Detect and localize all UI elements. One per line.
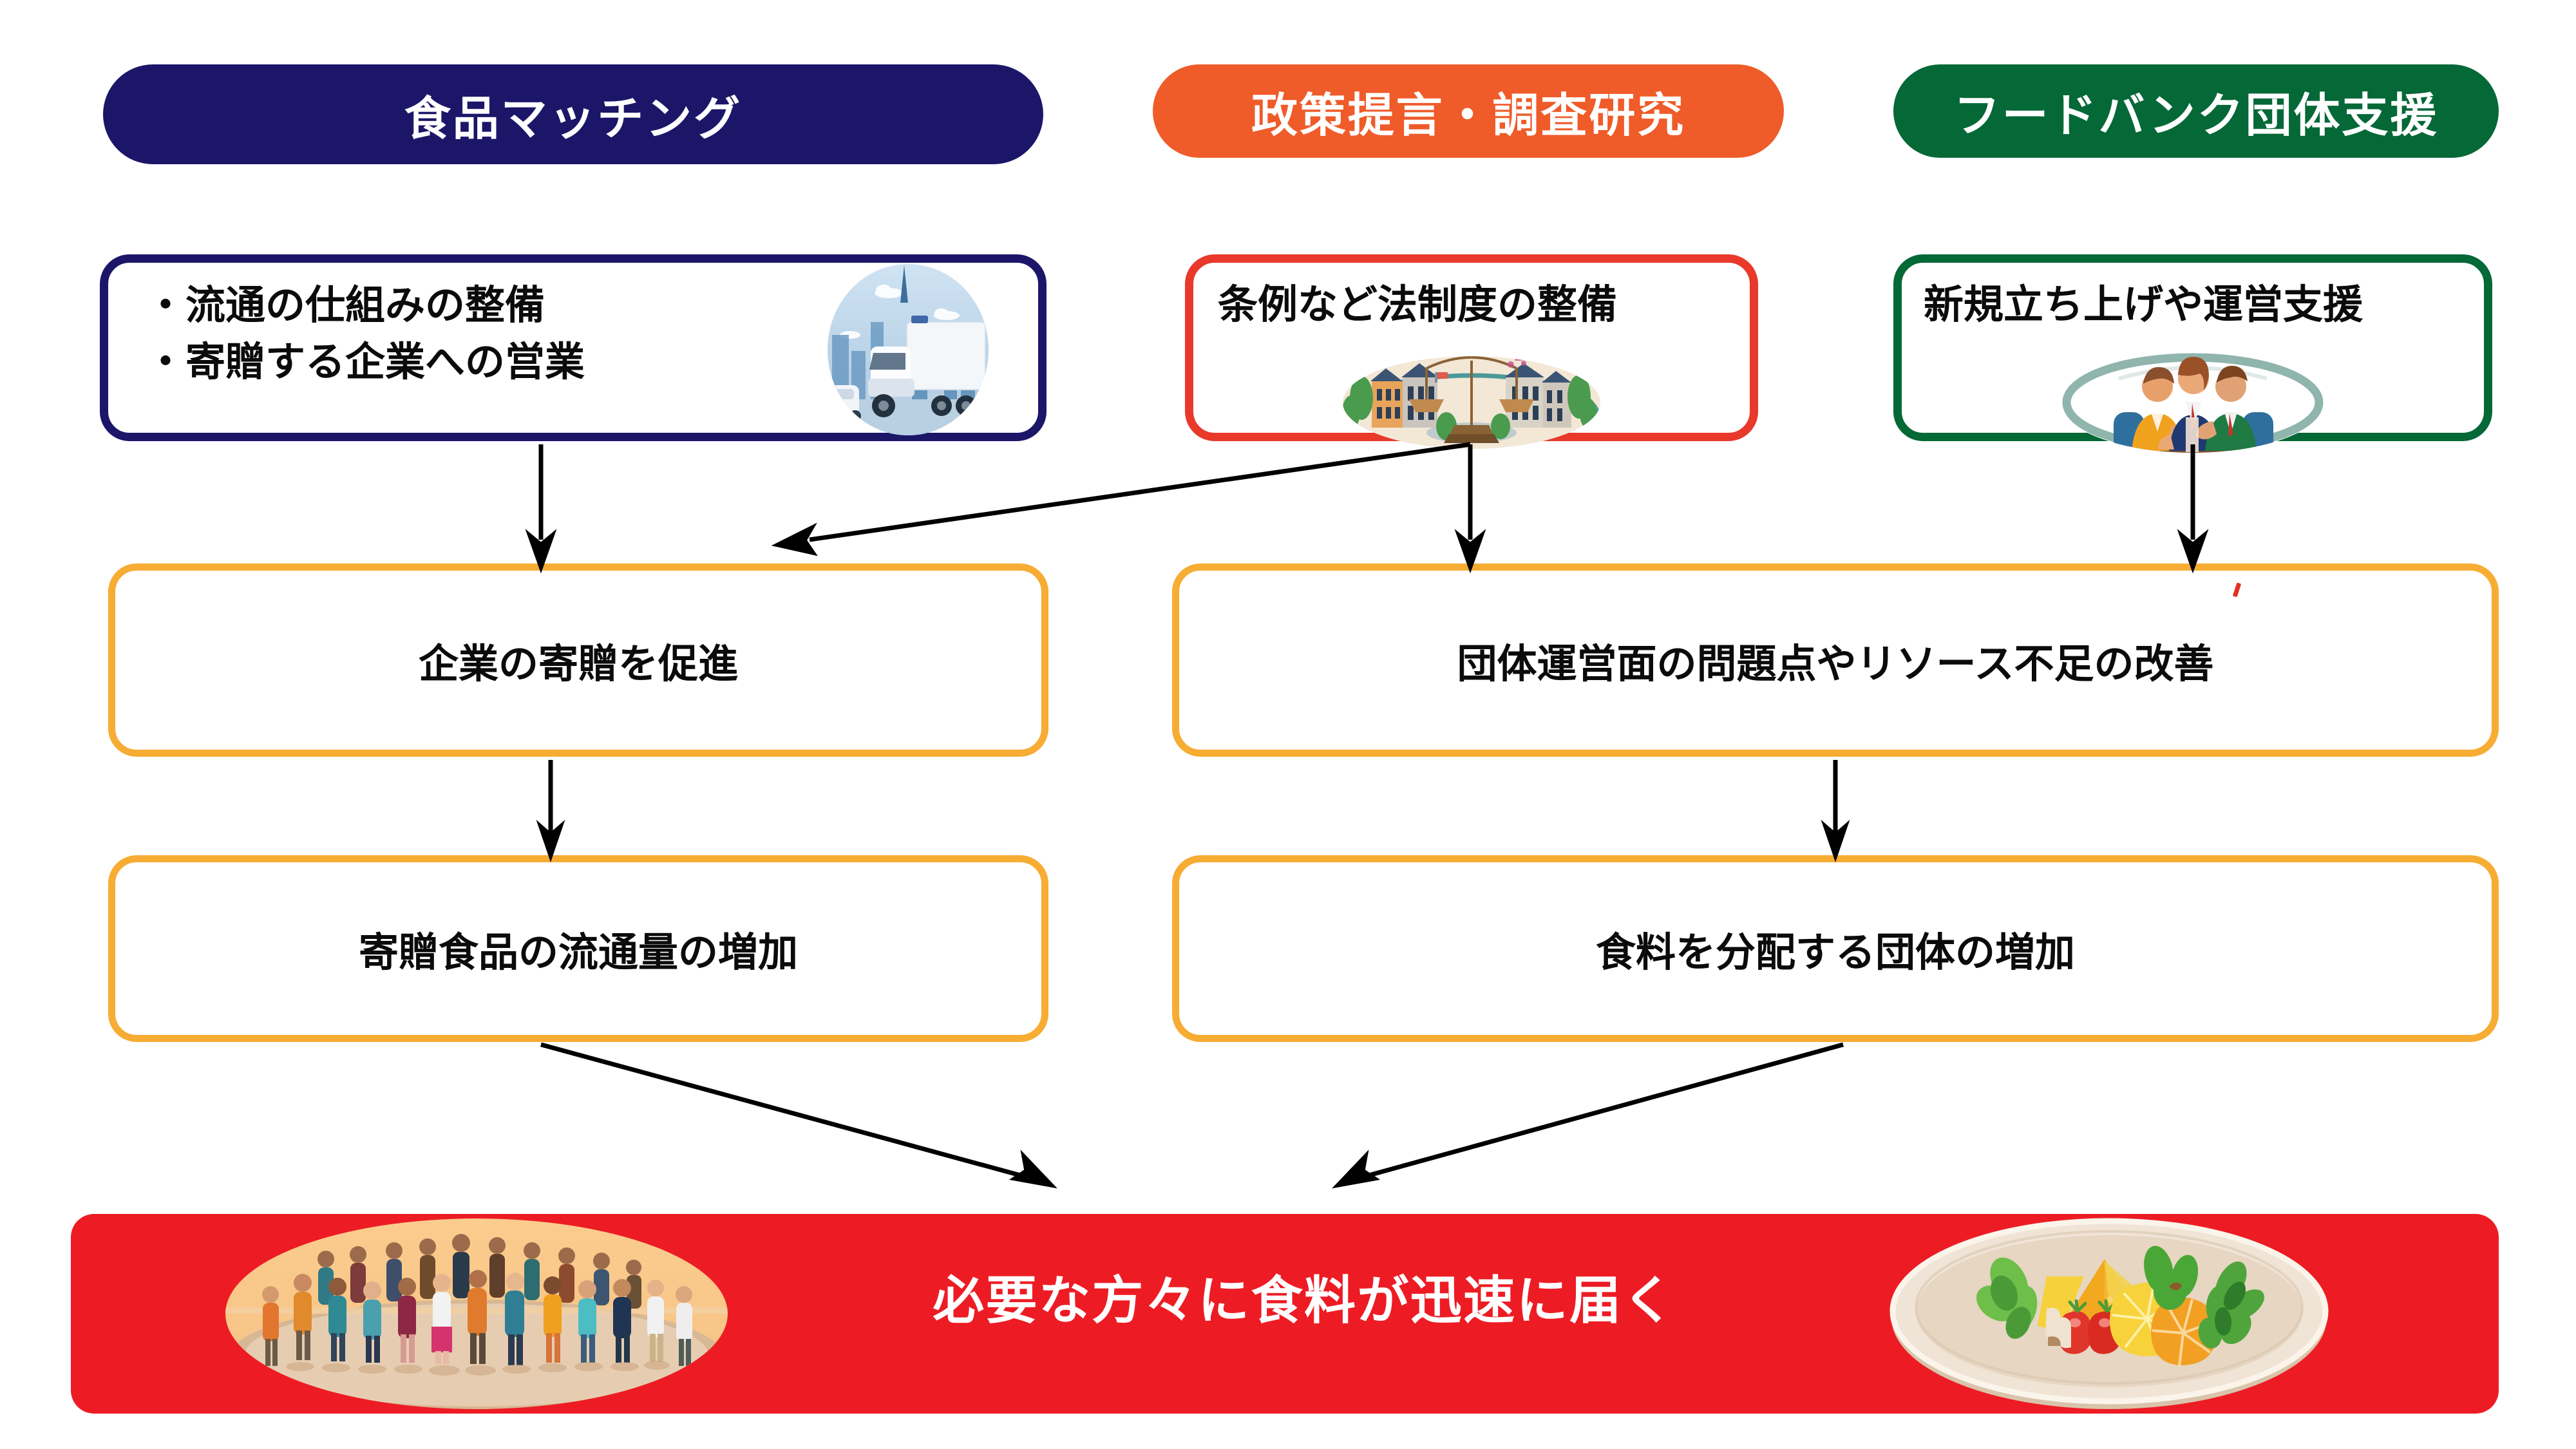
outcome-label: 寄贈食品の流通量の増加 [359, 920, 798, 978]
activity-card-foodbank[interactable]: 新規立ち上げや運営支援 [1893, 254, 2492, 441]
header-pill-foodbank-support-label: フードバンク団体支援 [1954, 77, 2438, 145]
arrow-orgs-to-goal [1338, 1045, 1843, 1185]
header-pill-policy-research[interactable]: 政策提言・調査研究 [1153, 64, 1784, 158]
header-pill-food-matching-label: 食品マッチング [404, 80, 742, 148]
outcome-box-promote-corporate-donation[interactable]: 企業の寄贈を促進 [108, 563, 1048, 757]
arrow-match-to-promote [530, 444, 552, 567]
header-pill-food-matching[interactable]: 食品マッチング [103, 64, 1043, 164]
arrow-bank-to-improve [2182, 444, 2204, 567]
food-matching-bullet-1: ・流通の仕組みの整備 [146, 277, 585, 334]
arrow-policy-to-improve [1459, 444, 1481, 567]
arrow-promote-to-flow [541, 760, 560, 855]
outcome-label: 団体運営面の問題点やリソース不足の改善 [1457, 631, 2214, 689]
outcome-box-increase-distributing-orgs[interactable]: 食料を分配する団体の増加 [1172, 855, 2499, 1042]
arrow-policy-to-promote [778, 444, 1470, 553]
outcome-label: 食料を分配する団体の増加 [1596, 920, 2075, 978]
foodbank-card-title: 新規立ち上げや運営支援 [1924, 272, 2363, 330]
header-pill-foodbank-support[interactable]: フードバンク団体支援 [1893, 64, 2499, 158]
activity-card-food-matching[interactable]: ・流通の仕組みの整備 ・寄贈する企業への営業 [100, 254, 1046, 441]
arrow-layer [530, 444, 2204, 1185]
arrow-flow-to-goal [541, 1045, 1051, 1185]
activity-card-policy[interactable]: 条例など法制度の整備 [1185, 254, 1758, 441]
goal-banner-label: 必要な方々に食料が迅速に届く [885, 1259, 1723, 1334]
flow-diagram-canvas: 食品マッチング 政策提言・調査研究 フードバンク団体支援 ・流通の仕組みの整備 … [0, 0, 2576, 1449]
outcome-box-improve-org-operations[interactable]: 団体運営面の問題点やリソース不足の改善 [1172, 563, 2499, 757]
outcome-box-increase-donated-food-flow[interactable]: 寄贈食品の流通量の増加 [108, 855, 1048, 1042]
food-matching-bullet-2: ・寄贈する企業への営業 [146, 334, 585, 390]
arrow-improve-to-orgs [1826, 760, 1845, 855]
policy-card-title: 条例など法制度の整備 [1218, 272, 1617, 330]
food-matching-bullet-list: ・流通の仕組みの整備 ・寄贈する企業への営業 [146, 277, 585, 390]
outcome-label: 企業の寄贈を促進 [419, 631, 738, 689]
header-pill-policy-research-label: 政策提言・調査研究 [1251, 77, 1685, 145]
